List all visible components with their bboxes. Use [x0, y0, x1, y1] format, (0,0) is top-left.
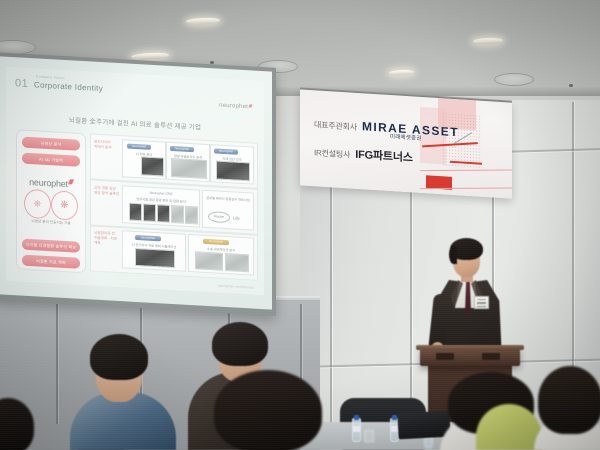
brain-scan-thumb — [225, 253, 249, 272]
solution-row-label: 알츠하이머치매의 분석 — [94, 140, 120, 151]
speaker-hair-side — [449, 246, 457, 264]
product-tag: neurophet — [214, 148, 238, 154]
speaker-presenter — [425, 238, 511, 360]
banner-line-secondary: IR컨설팅사IFG파트너스 — [314, 142, 413, 166]
banner-thin-line — [420, 187, 512, 189]
brain-scan-thumb — [195, 251, 223, 271]
brain-scan-thumb — [185, 206, 198, 225]
partner-card: 글로벌 제약사 공동연구 파트너십 Roche Lilly — [202, 190, 254, 231]
solution-row-label: 신약 개발 임상영상 분석 솔루션 — [94, 186, 120, 197]
speaker-name-badge — [474, 296, 489, 309]
ci-pill: AI 3D 기술력 — [22, 153, 80, 167]
wall-seam — [56, 304, 58, 424]
brain-scan-thumb — [171, 158, 207, 179]
brain-icon: ⎈ — [24, 189, 51, 220]
logo-tick-icon — [248, 104, 252, 107]
audience-member — [210, 370, 326, 450]
audience-hair — [0, 398, 34, 450]
brain-scan-thumb — [129, 203, 142, 222]
product-tag: neurophet — [127, 143, 151, 149]
roche-logo: Roche — [208, 211, 230, 223]
podium — [420, 348, 520, 366]
water-bottle — [352, 418, 361, 442]
bottle-cap — [392, 415, 397, 420]
audience-hair — [538, 366, 600, 434]
banner-brand-sub: 미래에셋증권 — [390, 132, 422, 142]
slide-logo-text: neurophet — [219, 103, 248, 111]
audience-member — [70, 330, 178, 450]
neurophet-logo: neurophet — [219, 103, 252, 111]
banner-graphic — [420, 97, 512, 199]
lilly-logo: Lilly — [233, 215, 240, 220]
slide-eyebrow: Company Vision — [36, 74, 65, 80]
solution-card: Neurophet CRO 임상시험 영상 중앙 판독 및 정량 분석 — [122, 185, 200, 227]
audience-hair — [212, 322, 268, 366]
brain-scan-thumb — [143, 203, 156, 222]
event-banner: 대표주관회사MIRAE ASSET 미래에셋증권 IR컨설팅사IFG파트너스 — [300, 89, 512, 198]
brain-icon-pair: ⎈ ❋ — [17, 188, 85, 221]
brain-scan-thumb — [171, 205, 184, 224]
solution-row-label: 뇌질환치료 전수술계획 · 치료계획 — [94, 231, 120, 247]
audience-hair — [214, 370, 322, 450]
brain-scan-thumb — [216, 160, 250, 181]
presentation-slide: 01 Company Vision Corporate Identity neu… — [6, 67, 264, 295]
ci-pill: 뇌영상 분석 — [22, 137, 80, 151]
audience-member — [0, 398, 34, 450]
corporate-identity-panel: 뇌영상 분석 AI 3D 기술력 neurophet ⎈ ❋ 뇌영상 분석 인공… — [16, 129, 86, 273]
brain-scan-thumb — [157, 204, 170, 223]
brain-scan-thumb — [135, 248, 175, 268]
solution-card: neurophet 뇌 위축 분석 — [122, 139, 166, 179]
slide-title: Corporate Identity — [34, 80, 103, 93]
banner-thin-line — [420, 169, 512, 171]
solution-card: neurophet 치매 진단 보조 — [210, 144, 254, 184]
recessed-downlight — [494, 73, 534, 86]
product-tag: neurophet — [203, 239, 229, 245]
podium-panel-inset — [436, 353, 454, 360]
solution-card: neurophet 정량 아밀로이드 분석 — [166, 142, 210, 182]
ci-logo-tick-icon — [68, 179, 74, 184]
bottle-label — [353, 426, 360, 432]
podium-top-surface — [416, 345, 524, 350]
product-tag: neurophet — [170, 146, 194, 152]
bottle-label — [391, 426, 398, 432]
ci-logo-text: neurophet — [29, 177, 68, 189]
badge-line — [477, 299, 486, 300]
product-tag: neurophet — [135, 235, 161, 241]
partner-caption: 글로벌 제약사 공동연구 파트너십 — [205, 195, 251, 203]
projection-screen: 01 Company Vision Corporate Identity neu… — [0, 56, 272, 309]
badge-line — [477, 306, 486, 307]
audience-hair — [90, 334, 148, 380]
photo-scene: 01 Company Vision Corporate Identity neu… — [0, 0, 600, 450]
ci-pill: 디지털 신경질환 솔루션 확보 — [22, 239, 80, 253]
brain-scan-thumb — [141, 156, 164, 176]
podium-panel-inset — [482, 353, 500, 360]
badge-line — [477, 302, 486, 303]
ci-pill: 뇌질환 치료 계획 — [22, 255, 80, 269]
ai-network-icon: ❋ — [51, 190, 78, 221]
ceiling-sensor-dot — [569, 84, 573, 87]
slide-number: 01 — [15, 77, 28, 90]
solution-card: neurophet 수술 내비게이션 분석 — [188, 234, 254, 276]
audience-member — [532, 366, 600, 450]
solution-card: neurophet 뇌 전기자극 치료 계획 시뮬레이션 — [122, 230, 186, 272]
slide-footer: neurophet confidential — [218, 284, 254, 290]
drinking-glass — [364, 430, 374, 442]
banner-value-ifg-partners: IFG파트너스 — [355, 149, 412, 165]
banner-label-ir-consultant: IR컨설팅사 — [314, 148, 350, 159]
bottle-cap — [354, 415, 359, 420]
banner-label-lead-manager: 대표주관회사 — [314, 120, 357, 132]
